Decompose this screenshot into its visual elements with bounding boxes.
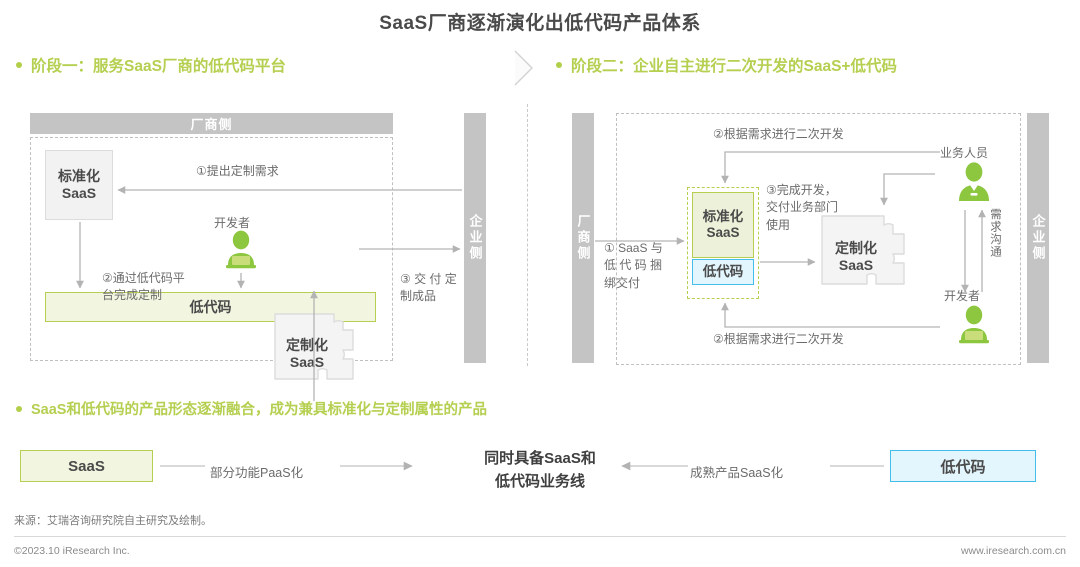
custom-saas-label: 定制化 SaaS <box>271 310 357 397</box>
arrow-label-2: ②通过低代码平 台完成定制 <box>102 270 222 305</box>
developer-caption: 开发者 <box>214 214 250 231</box>
bottom-saas-box: SaaS <box>20 450 153 482</box>
arrow-label-1: ①提出定制需求 <box>196 163 279 180</box>
bottom-center-line2: 低代码业务线 <box>420 471 660 494</box>
bullet-icon <box>16 406 22 412</box>
developer-caption: 开发者 <box>944 287 980 304</box>
source-note: 来源：艾瑞咨询研究院自主研究及绘制。 <box>14 512 212 528</box>
vendor-side-bar: 厂商侧 <box>572 113 594 363</box>
bottom-heading: SaaS和低代码的产品形态逐渐融合，成为兼具标准化与定制属性的产品 <box>16 398 487 419</box>
arrow-label-1: ① SaaS 与 低 代 码 捆 绑交付 <box>604 240 676 292</box>
stage-2-heading-label: 阶段二：企业自主进行二次开发的SaaS+低代码 <box>571 54 897 76</box>
stage-2-heading: 阶段二：企业自主进行二次开发的SaaS+低代码 <box>556 54 897 76</box>
bottom-right-arrow-label: 成熟产品SaaS化 <box>690 462 783 481</box>
standard-saas-line1: 标准化 <box>58 168 100 185</box>
standard-saas-line2: SaaS <box>62 185 96 202</box>
developer-icon <box>953 304 995 351</box>
stage-1-heading: 阶段一：服务SaaS厂商的低代码平台 <box>16 54 286 76</box>
standard-saas-box: 标准化 SaaS <box>692 192 754 258</box>
footer-divider <box>14 536 1066 537</box>
arrow-label-3: ③ 交 付 定 制成品 <box>400 271 462 306</box>
custom-saas-line2: SaaS <box>839 257 873 274</box>
standard-saas-line2: SaaS <box>706 225 739 241</box>
business-staff-caption: 业务人员 <box>940 144 988 161</box>
lowcode-box: 低代码 <box>692 259 754 285</box>
standard-saas-box: 标准化 SaaS <box>45 150 113 220</box>
slide-root: SaaS厂商逐渐演化出低代码产品体系 阶段一：服务SaaS厂商的低代码平台 阶段… <box>0 0 1080 567</box>
vendor-side-bar: 厂商侧 <box>30 113 393 134</box>
arrow-label-3: ③完成开发， 交付业务部门 使用 <box>766 182 848 234</box>
stage-1-heading-label: 阶段一：服务SaaS厂商的低代码平台 <box>31 54 286 76</box>
bottom-heading-label: SaaS和低代码的产品形态逐渐融合，成为兼具标准化与定制属性的产品 <box>31 398 487 419</box>
custom-saas-line1: 定制化 <box>835 240 877 257</box>
enterprise-side-bar: 企业侧 <box>464 113 486 363</box>
copyright-text: ©2023.10 iResearch Inc. <box>14 545 130 557</box>
website-url: www.iresearch.com.cn <box>961 545 1066 557</box>
arrow-label-2-top: ②根据需求进行二次开发 <box>713 126 844 143</box>
custom-saas-puzzle-box: 定制化 SaaS <box>271 310 357 397</box>
bullet-icon <box>556 62 562 68</box>
custom-saas-line1: 定制化 <box>286 337 328 354</box>
bottom-left-arrow-label: 部分功能PaaS化 <box>210 462 303 481</box>
requirement-communication-label: 需求沟通 <box>987 208 1003 258</box>
bottom-lowcode-box: 低代码 <box>890 450 1036 482</box>
bullet-icon <box>16 62 22 68</box>
developer-icon <box>220 229 262 276</box>
custom-saas-line2: SaaS <box>290 354 324 371</box>
enterprise-side-bar: 企业侧 <box>1027 113 1049 363</box>
business-staff-icon <box>954 161 994 208</box>
bottom-center-line1: 同时具备SaaS和 <box>420 448 660 471</box>
arrow-label-2-bottom: ②根据需求进行二次开发 <box>713 331 844 348</box>
chevron-right-icon <box>512 48 536 88</box>
standard-saas-line1: 标准化 <box>703 209 744 225</box>
page-title: SaaS厂商逐渐演化出低代码产品体系 <box>0 8 1080 35</box>
stage-1-diagram: 厂商侧 企业侧 标准化 SaaS 低代码 定制化 SaaS <box>14 105 528 365</box>
bottom-center-label: 同时具备SaaS和 低代码业务线 <box>420 448 660 493</box>
